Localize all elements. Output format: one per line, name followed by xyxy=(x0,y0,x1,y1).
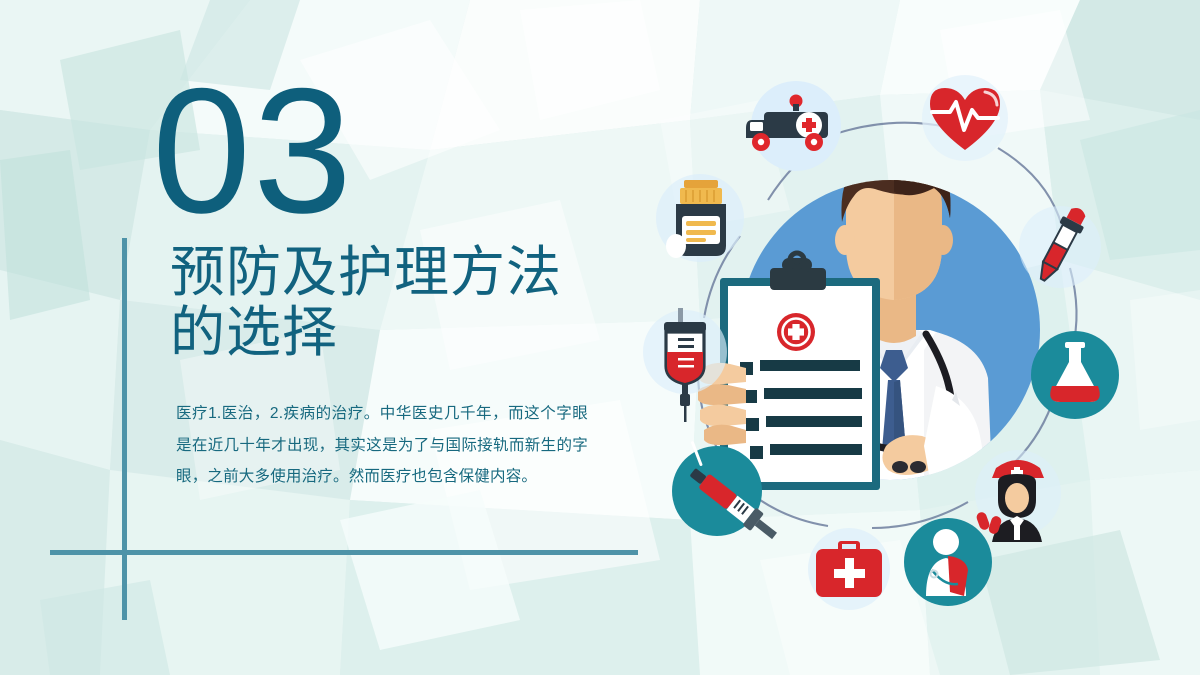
red-cross-badge xyxy=(777,313,815,351)
horizontal-divider xyxy=(50,550,638,555)
flask-icon[interactable] xyxy=(1031,331,1119,419)
dropper-icon[interactable] xyxy=(1019,203,1101,288)
ambulance-icon[interactable] xyxy=(746,81,841,171)
slide-canvas: 03 预防及护理方法 的选择 医疗1.医治，2.疾病的治疗。中华医史几千年，而这… xyxy=(0,0,1200,675)
patient-sling-icon[interactable] xyxy=(904,518,992,606)
heart-pulse-icon[interactable] xyxy=(922,75,1008,161)
section-number: 03 xyxy=(152,62,354,240)
body-paragraph: 医疗1.医治，2.疾病的治疗。中华医史几千年，而这个字眼是在近几十年才出现，其实… xyxy=(176,398,588,493)
first-aid-kit-icon[interactable] xyxy=(808,528,890,610)
title-line-2: 的选择 xyxy=(170,303,640,363)
title-line-1: 预防及护理方法 xyxy=(170,243,640,303)
left-text-column: 03 预防及护理方法 的选择 医疗1.医治，2.疾病的治疗。中华医史几千年，而这… xyxy=(0,0,660,675)
vertical-divider xyxy=(122,238,127,620)
nurse-icon[interactable] xyxy=(975,450,1061,542)
page-title: 预防及护理方法 的选择 xyxy=(170,243,640,363)
illustration-svg xyxy=(600,50,1200,630)
medical-illustration xyxy=(600,50,1200,630)
medicine-bottle-icon[interactable] xyxy=(656,174,744,262)
